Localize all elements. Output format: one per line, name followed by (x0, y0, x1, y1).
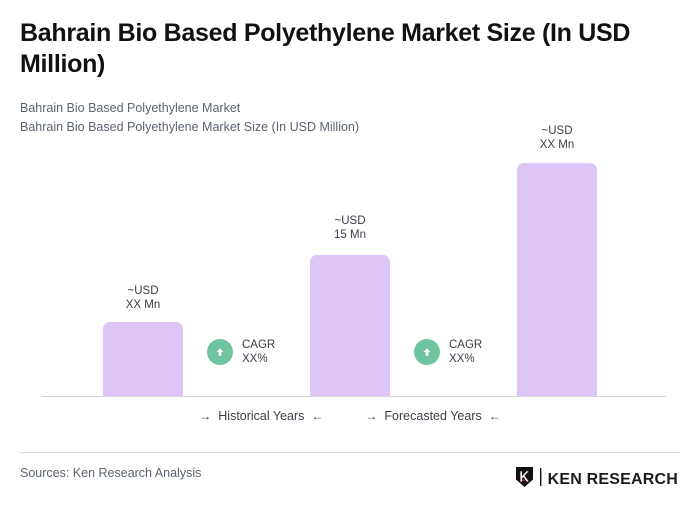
bar-value-label-2-line1: ~USD (310, 214, 390, 228)
cagr-badge-1[interactable]: CAGR XX% (207, 338, 275, 367)
bar-value-label-1-line2: XX Mn (103, 298, 183, 312)
cagr-badge-2-line1: CAGR (449, 338, 482, 352)
bar-value-label-2-line2: 15 Mn (310, 228, 390, 242)
brand-wordmark: KEN RESEARCH (548, 472, 678, 488)
bar-value-label-3-line2: XX Mn (517, 138, 597, 152)
arrow-right-icon: → (365, 410, 377, 422)
bar-value-label-3-line1: ~USD (517, 124, 597, 138)
cagr-badge-2-text: CAGR XX% (449, 338, 482, 367)
arrow-right-icon: → (199, 410, 211, 422)
cagr-badge-2-line2: XX% (449, 352, 482, 366)
brand-separator-bar (539, 468, 543, 491)
bar-value-label-3: ~USD XX Mn (517, 124, 597, 153)
chart-page: Bahrain Bio Based Polyethylene Market Si… (0, 0, 700, 520)
bar-value-label-1-line1: ~USD (103, 284, 183, 298)
bar-value-label-2: ~USD 15 Mn (310, 214, 390, 243)
arrow-up-icon (414, 339, 440, 365)
bar-base[interactable] (310, 255, 390, 396)
sources-text: Sources: Ken Research Analysis (20, 466, 201, 480)
period-forecasted[interactable]: → Forecasted Years ← (365, 409, 500, 423)
bar-forecast[interactable] (517, 163, 597, 396)
x-axis-line (42, 396, 666, 397)
arrow-left-icon: ← (311, 410, 323, 422)
period-forecasted-label: Forecasted Years (384, 409, 481, 423)
period-legend: → Historical Years ← → Forecasted Years … (0, 409, 700, 423)
bar-value-label-1: ~USD XX Mn (103, 284, 183, 313)
cagr-badge-1-text: CAGR XX% (242, 338, 275, 367)
cagr-badge-2[interactable]: CAGR XX% (414, 338, 482, 367)
chart-footer: Sources: Ken Research Analysis KEN RESEA… (0, 452, 700, 520)
brand-logo: KEN RESEARCH (515, 466, 678, 493)
bar-historical[interactable] (103, 322, 183, 396)
ken-research-shield-icon (515, 466, 534, 493)
period-historical[interactable]: → Historical Years ← (199, 409, 323, 423)
period-historical-label: Historical Years (218, 409, 304, 423)
arrow-left-icon: ← (489, 410, 501, 422)
cagr-badge-1-line2: XX% (242, 352, 275, 366)
arrow-up-icon (207, 339, 233, 365)
cagr-badge-1-line1: CAGR (242, 338, 275, 352)
chart-plot-area: ~USD XX Mn CAGR XX% ~USD 15 Mn (0, 0, 700, 440)
